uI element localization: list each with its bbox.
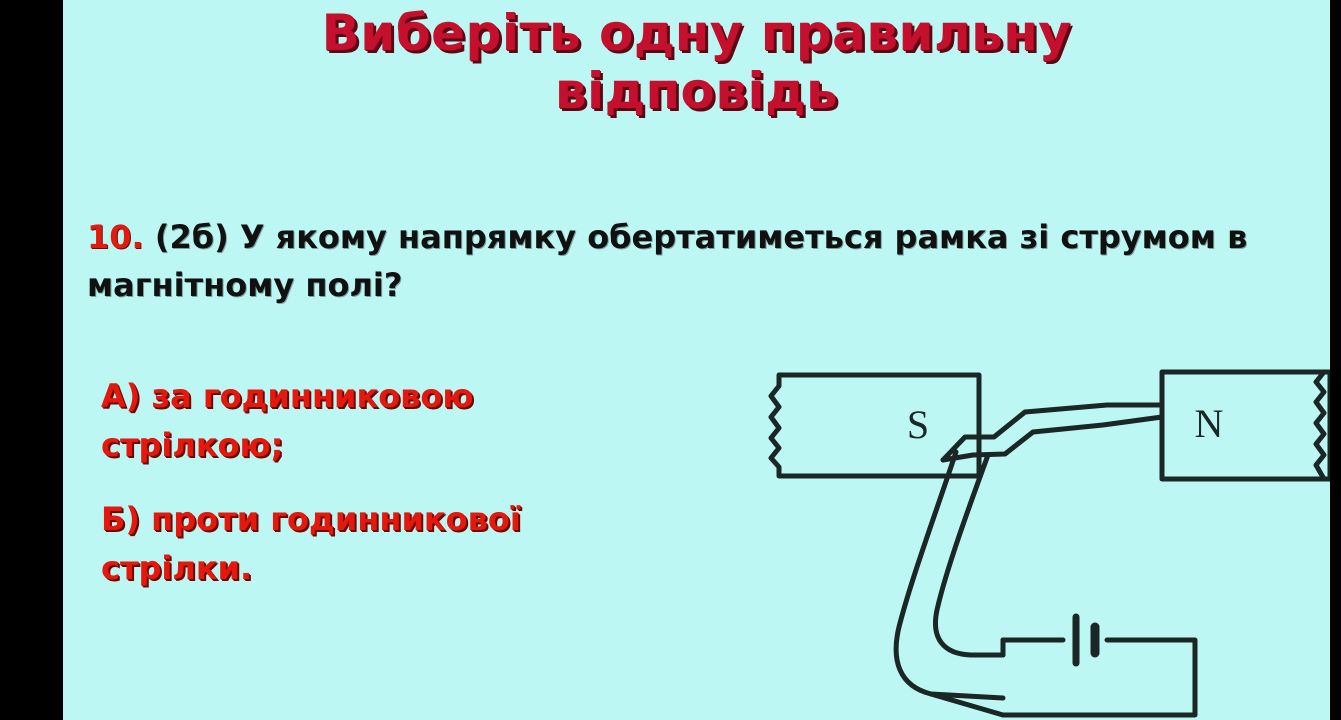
answer-option-a[interactable]: А) за годинниковою стрілкою; — [101, 372, 661, 470]
north-pole-magnet: N — [1162, 372, 1330, 479]
letterbox-bar-left — [0, 0, 63, 720]
question-number: 10. — [87, 218, 144, 256]
page-title: Виберіть одну правильну відповідь — [63, 4, 1330, 120]
physics-diagram: S N — [703, 355, 1330, 720]
question-text: 10. (2б) У якому напрямку обертатиметься… — [87, 213, 1267, 309]
south-pole-label: S — [907, 402, 929, 447]
answer-option-b[interactable]: Б) проти годинникової стрілки. — [101, 495, 661, 593]
battery-symbol — [1076, 617, 1095, 663]
question-body: (2б) У якому напрямку обертатиметься рам… — [87, 218, 1247, 304]
circuit-wire — [931, 640, 1195, 715]
north-pole-label: N — [1195, 401, 1224, 446]
answer-options-list: А) за годинниковою стрілкою; Б) проти го… — [101, 372, 701, 618]
slide-canvas: Виберіть одну правильну відповідь 10. (2… — [63, 0, 1330, 720]
slide-root: Виберіть одну правильну відповідь 10. (2… — [0, 0, 1341, 720]
current-loop-frame — [896, 405, 1162, 698]
letterbox-bar-right — [1330, 0, 1341, 720]
